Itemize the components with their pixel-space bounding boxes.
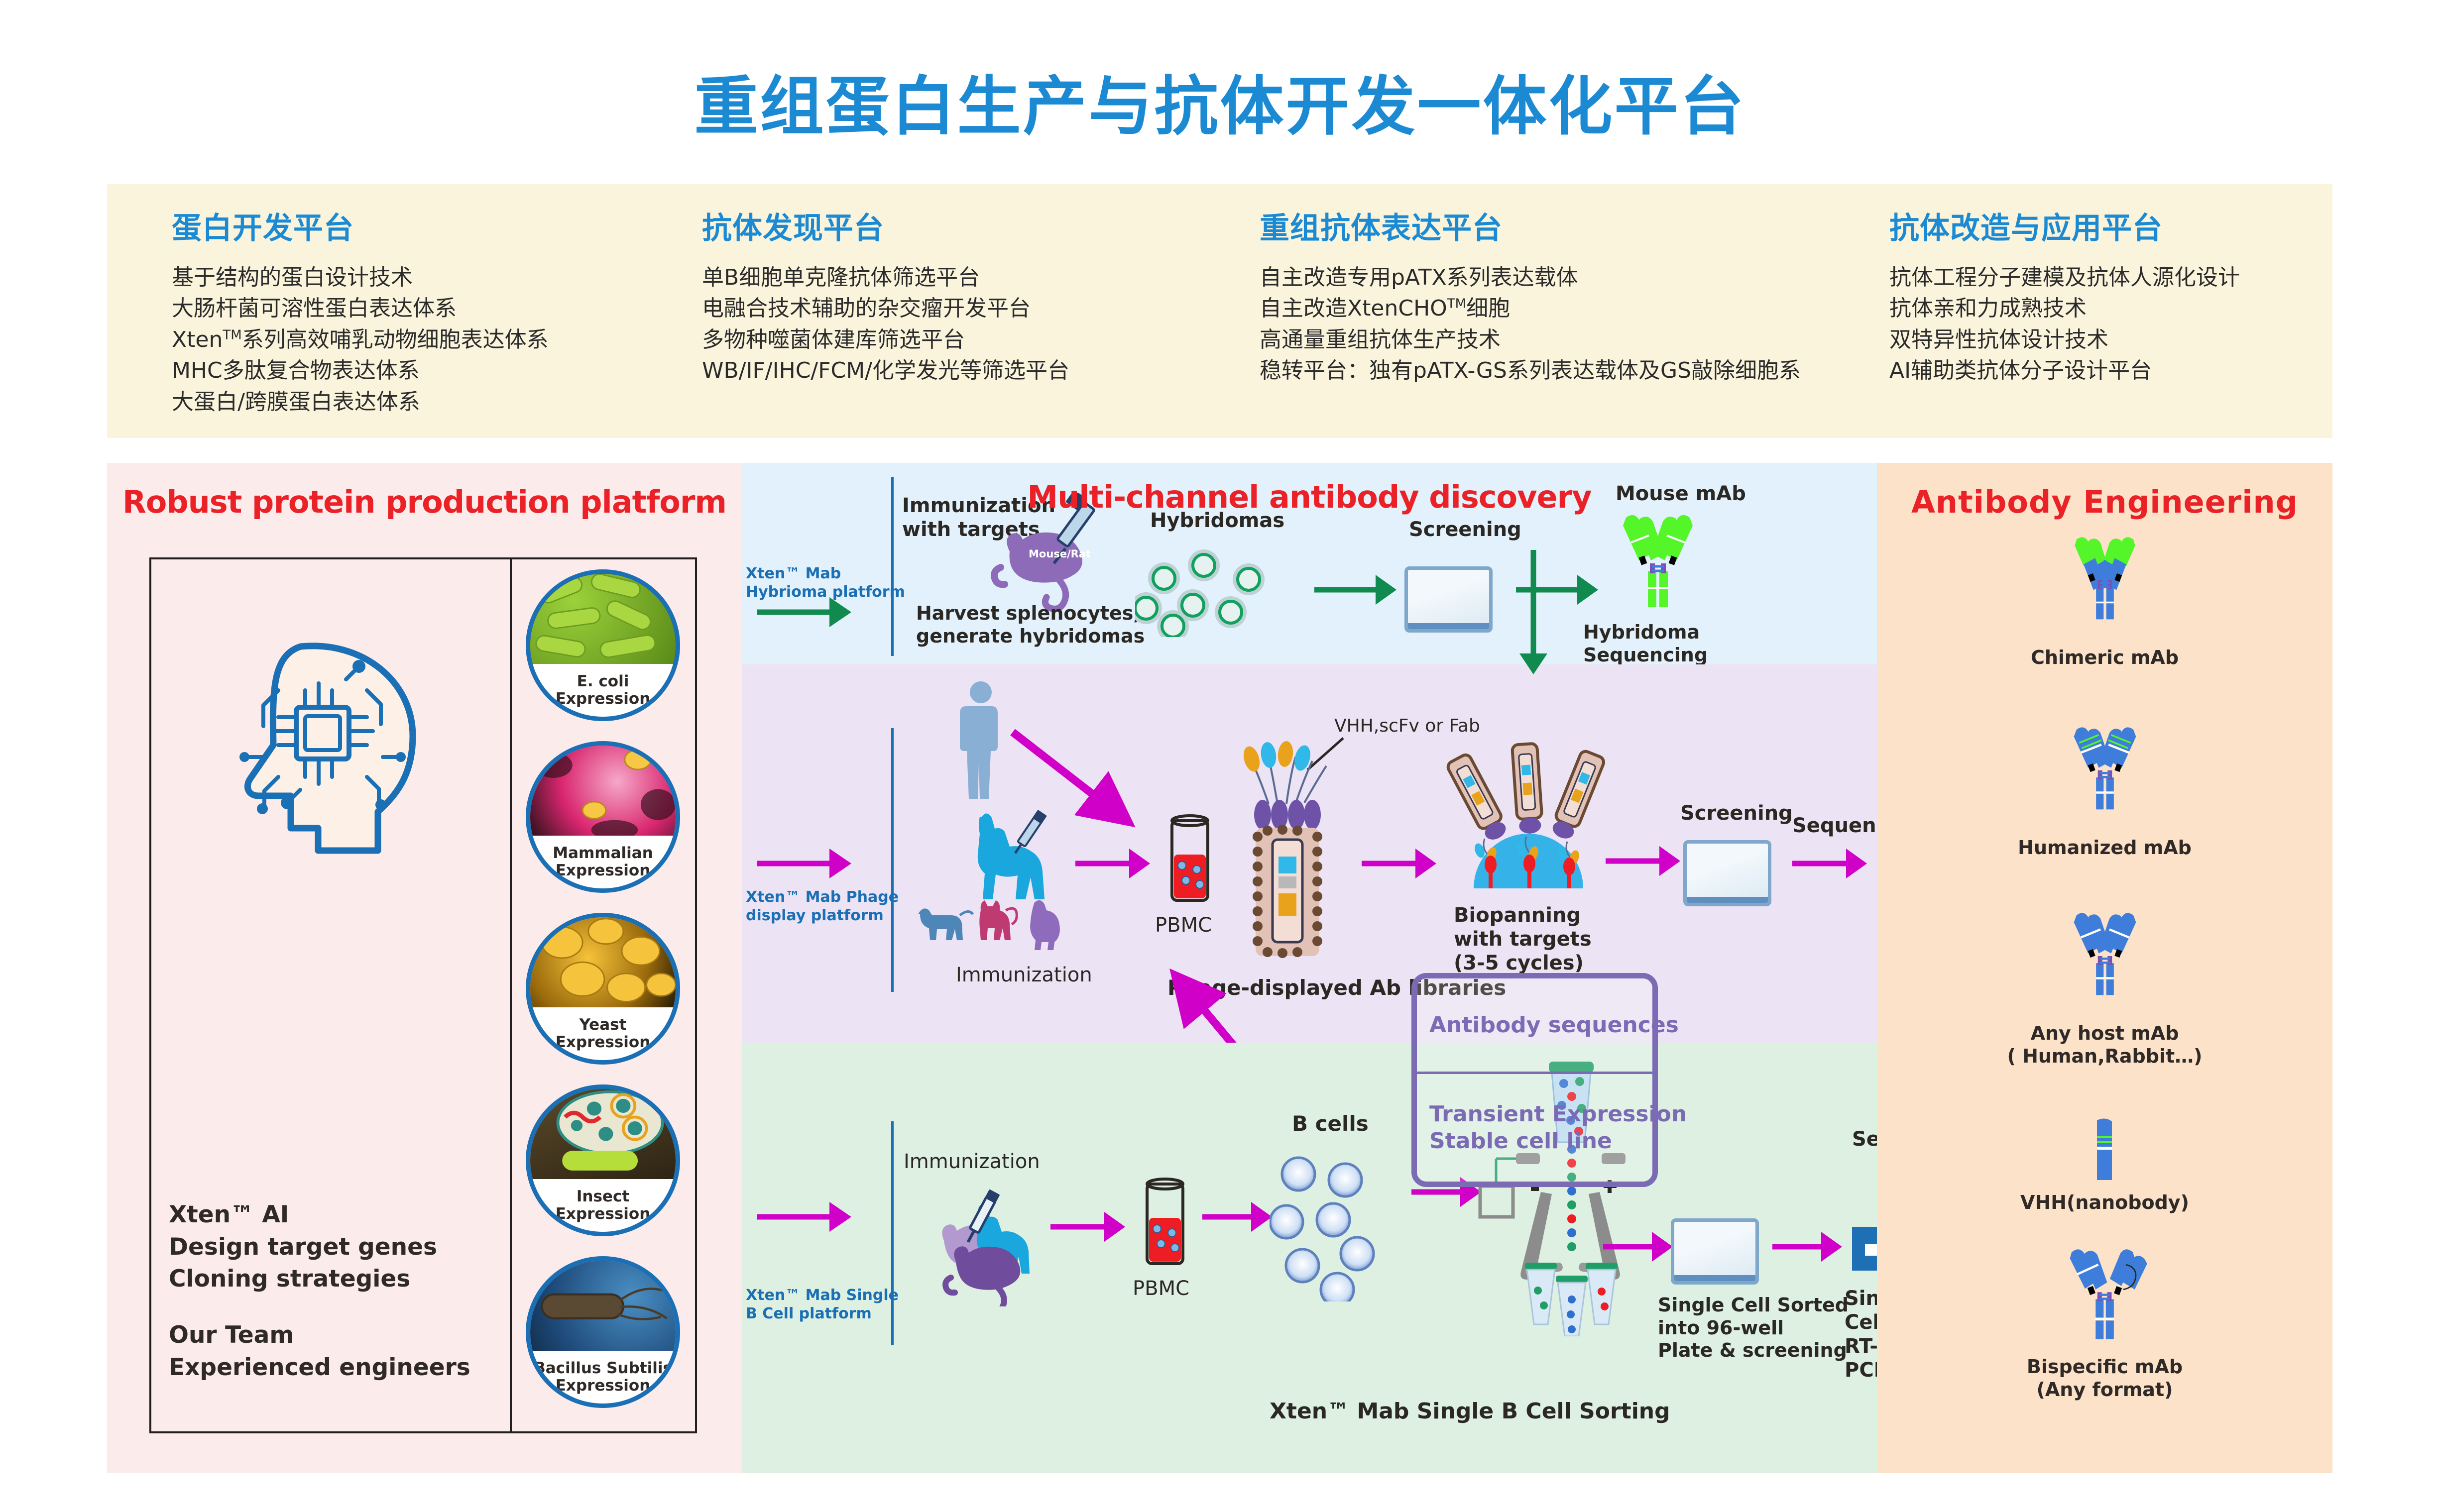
banner-item: WB/IF/IHC/FCM/化学发光等筛选平台 bbox=[702, 355, 1225, 386]
tag-line1: Xten™ Mab Phage bbox=[746, 888, 899, 907]
banner-item: 大蛋白/跨膜蛋白表达体系 bbox=[172, 387, 670, 418]
vhh-nanobody-icon bbox=[2090, 1117, 2120, 1182]
biopanning-icon bbox=[1439, 739, 1618, 903]
immunization-label-phage: Immunization bbox=[956, 963, 1092, 987]
tag-line1: Xten™ Mab bbox=[746, 565, 905, 583]
seqbox-top: Antibody sequences bbox=[1417, 978, 1652, 1074]
label-line2: with targets bbox=[1454, 927, 1592, 951]
banner-item: MHC多肽复合物表达体系 bbox=[172, 355, 670, 386]
banner-item: 单B细胞单克隆抗体筛选平台 bbox=[702, 262, 1225, 293]
engineering-item-anyhost: Any host mAb ( Human,Rabbit…) bbox=[1877, 911, 2332, 1068]
label-line1: Biopanning bbox=[1454, 903, 1592, 927]
ai-design-block: Xten™ AI Design target genes Cloning str… bbox=[151, 559, 510, 1431]
vhh-scfv-fab-label: VHH,scFv or Fab bbox=[1334, 715, 1480, 737]
humanized-mab-icon bbox=[2055, 725, 2155, 827]
engineering-caption-sub: ( Human,Rabbit…) bbox=[1877, 1045, 2332, 1068]
tag-line1: Xten™ Mab Single bbox=[746, 1287, 899, 1305]
mice-syringe-icon bbox=[921, 1187, 1046, 1306]
page-title: 重组蛋白生产与抗体开发一体化平台 bbox=[0, 55, 2440, 147]
label-line3: (3-5 cycles) bbox=[1454, 951, 1592, 975]
left-line: Design target genes bbox=[169, 1231, 507, 1264]
caption-line1: E. coli bbox=[577, 673, 629, 690]
pbmc-label-phage: PBMC bbox=[1155, 913, 1212, 937]
left-line: Xten™ AI bbox=[169, 1199, 507, 1231]
expression-circle-yeast: Yeast Expression bbox=[526, 913, 680, 1065]
banner-column-engineering: 抗体改造与应用平台 抗体工程分子建模及抗体人源化设计 抗体亲和力成熟技术 双特异… bbox=[1867, 184, 2332, 438]
label-line1: Single Cell Sorted bbox=[1658, 1294, 1849, 1317]
expression-circle-bacillus: Bacillus Subtilis Expression bbox=[526, 1256, 680, 1408]
bispecific-mab-icon bbox=[2048, 1244, 2162, 1346]
phage-display-workflow-row: Xten™ Mab Phage display platform bbox=[742, 664, 1877, 1043]
seqbox-bottom-line1: Transient Expression bbox=[1429, 1101, 1652, 1128]
banner-item: 高通量重组抗体生产技术 bbox=[1260, 324, 1867, 355]
caption-line2: Expression bbox=[556, 862, 651, 879]
phage-particle-icon bbox=[1230, 729, 1339, 978]
antibody-sequence-box: Antibody sequences Transient Expression … bbox=[1411, 973, 1658, 1187]
expression-circle-caption: Mammalian Expression bbox=[530, 836, 676, 888]
banner-item: 抗体亲和力成熟技术 bbox=[1889, 293, 2332, 324]
label-line2: into 96-well bbox=[1658, 1317, 1849, 1340]
expression-systems-list: E. coli Expression bbox=[512, 559, 695, 1431]
seqbox-bottom-line2: Stable cell line bbox=[1429, 1128, 1652, 1155]
expression-circle-insect: Insect Expression bbox=[526, 1084, 680, 1236]
engineering-caption: Bispecific mAb bbox=[1877, 1356, 2332, 1379]
bcell-divider bbox=[891, 1121, 894, 1345]
mammalian-photo bbox=[530, 746, 676, 836]
yeast-photo bbox=[530, 917, 676, 1007]
label-line1: Harvest splenocytes, bbox=[916, 602, 1145, 625]
caption-line2: Expression bbox=[556, 1377, 651, 1395]
b-cells-label: B cells bbox=[1292, 1111, 1369, 1136]
left-panel-box: Xten™ AI Design target genes Cloning str… bbox=[149, 557, 697, 1433]
expression-circle-caption: Yeast Expression bbox=[530, 1007, 676, 1060]
engineering-item-vhh: VHH(nanobody) bbox=[1877, 1117, 2332, 1214]
pbmc-tube-icon bbox=[1160, 814, 1220, 913]
antibody-engineering-panel: Antibody Engineering bbox=[1877, 463, 2332, 1473]
human-silhouette-icon bbox=[951, 679, 1011, 804]
protein-production-panel: Robust protein production platform bbox=[107, 463, 742, 1473]
banner-item: 稳转平台：独有pATX-GS系列表达载体及GS敲除细胞系 bbox=[1260, 355, 1867, 386]
banner-column-protein: 蛋白开发平台 基于结构的蛋白设计技术 大肠杆菌可溶性蛋白表达体系 XtenTM系… bbox=[107, 184, 670, 438]
harvest-splenocytes-label: Harvest splenocytes, generate hybridomas bbox=[916, 602, 1145, 648]
phage-platform-tag: Xten™ Mab Phage display platform bbox=[746, 888, 899, 925]
expression-circle-caption: E. coli Expression bbox=[530, 664, 676, 717]
caption-line2: Expression bbox=[556, 1205, 651, 1223]
expression-circle-caption: Bacillus Subtilis Expression bbox=[530, 1351, 676, 1404]
pbmc-tube-icon-bcell bbox=[1135, 1177, 1195, 1277]
biopanning-label: Biopanning with targets (3-5 cycles) bbox=[1454, 903, 1592, 975]
engineering-caption: Any host mAb bbox=[1877, 1022, 2332, 1045]
seqbox-bottom: Transient Expression Stable cell line bbox=[1417, 1074, 1652, 1182]
banner-item: AI辅助类抗体分子设计平台 bbox=[1889, 355, 2332, 386]
banner-item: 抗体工程分子建模及抗体人源化设计 bbox=[1889, 262, 2332, 293]
banner-column-discovery: 抗体发现平台 单B细胞单克隆抗体筛选平台 电融合技术辅助的杂交瘤开发平台 多物种… bbox=[670, 184, 1225, 438]
screening-plate-icon-bcell bbox=[1665, 1214, 1757, 1282]
platform-banner: 蛋白开发平台 基于结构的蛋白设计技术 大肠杆菌可溶性蛋白表达体系 XtenTM系… bbox=[107, 184, 2332, 438]
banner-heading: 重组抗体表达平台 bbox=[1260, 204, 1867, 247]
banner-heading: 蛋白开发平台 bbox=[172, 204, 670, 247]
phage-divider bbox=[891, 728, 894, 992]
engineering-caption: Humanized mAb bbox=[1877, 837, 2332, 860]
banner-column-expression: 重组抗体表达平台 自主改造专用pATX系列表达载体 自主改造XtenCHOTM细… bbox=[1225, 184, 1867, 438]
label-line1: Hybridoma bbox=[1583, 621, 1708, 644]
workflow-panels: Robust protein production platform bbox=[107, 463, 2332, 1473]
left-line: Cloning strategies bbox=[169, 1263, 507, 1296]
banner-item: 自主改造专用pATX系列表达载体 bbox=[1260, 262, 1867, 293]
expression-circle-ecoli: E. coli Expression bbox=[526, 569, 680, 721]
banner-heading: 抗体发现平台 bbox=[702, 204, 1225, 247]
caption-line1: Mammalian bbox=[553, 845, 653, 862]
any-host-mab-icon bbox=[2055, 911, 2155, 1013]
b-cells-icon bbox=[1270, 1152, 1419, 1301]
mouse-mab-antibody-icon bbox=[1608, 513, 1708, 627]
label-line2: Sequencing bbox=[1583, 644, 1708, 667]
engineering-caption: VHH(nanobody) bbox=[1877, 1191, 2332, 1214]
label-line3: Plate & screening bbox=[1658, 1339, 1849, 1362]
engineering-item-bispecific: Bispecific mAb (Any format) bbox=[1877, 1244, 2332, 1401]
banner-item: 大肠杆菌可溶性蛋白表达体系 bbox=[172, 293, 670, 324]
left-panel-title: Robust protein production platform bbox=[107, 484, 742, 520]
pbmc-label-bcell: PBMC bbox=[1133, 1277, 1189, 1300]
insect-photo bbox=[530, 1089, 676, 1179]
left-line: Our Team bbox=[169, 1319, 507, 1352]
engineering-caption-sub: (Any format) bbox=[1877, 1379, 2332, 1402]
mid-panel-title: Multi-channel antibody discovery bbox=[742, 479, 1877, 515]
banner-heading: 抗体改造与应用平台 bbox=[1889, 204, 2332, 247]
banner-item: XtenTM系列高效哺乳动物细胞表达体系 bbox=[172, 324, 670, 355]
arrow-human-to-pbmc bbox=[1006, 724, 1140, 834]
banner-item: 多物种噬菌体建库筛选平台 bbox=[702, 324, 1225, 355]
banner-item: 自主改造XtenCHOTM细胞 bbox=[1260, 293, 1867, 324]
caption-line2: Expression bbox=[556, 690, 651, 708]
banner-item: 双特异性抗体设计技术 bbox=[1889, 324, 2332, 355]
right-panel-title: Antibody Engineering bbox=[1877, 484, 2332, 520]
engineering-caption: Chimeric mAb bbox=[1877, 647, 2332, 669]
expression-circle-mammalian: Mammalian Expression bbox=[526, 741, 680, 893]
tag-line2: B Cell platform bbox=[746, 1305, 899, 1323]
single-bcell-workflow-row: Xten™ Mab Single B Cell platform Immuniz… bbox=[742, 1043, 1877, 1473]
ai-design-text: Xten™ AI Design target genes Cloning str… bbox=[169, 1199, 507, 1384]
animal-species-icons bbox=[911, 893, 1075, 953]
seqbox-top-label: Antibody sequences bbox=[1429, 1012, 1679, 1039]
immunization-label-bcell: Immunization bbox=[904, 1150, 1040, 1174]
expression-circle-caption: Insect Expression bbox=[530, 1179, 676, 1232]
caption-line1: Yeast bbox=[580, 1016, 627, 1034]
label-line2: generate hybridomas bbox=[916, 625, 1145, 648]
hybridoma-sequencing-label: Hybridoma Sequencing bbox=[1583, 621, 1708, 666]
caption-line1: Bacillus Subtilis bbox=[534, 1360, 672, 1377]
engineering-item-chimeric: Chimeric mAb bbox=[1877, 535, 2332, 669]
svg-text:Mouse/Rat: Mouse/Rat bbox=[1029, 548, 1091, 560]
screening-label-phage: Screening bbox=[1680, 801, 1793, 825]
engineering-item-humanized: Humanized mAb bbox=[1877, 725, 2332, 860]
screening-label-hybridoma: Screening bbox=[1409, 518, 1521, 541]
caption-line2: Expression bbox=[556, 1034, 651, 1051]
hybridoma-platform-tag: Xten™ Mab Hybrioma platform bbox=[746, 565, 905, 601]
hybridoma-cells-icon bbox=[1135, 547, 1334, 637]
ecoli-photo bbox=[530, 574, 676, 664]
caption-line1: Insect bbox=[577, 1188, 629, 1205]
bacillus-photo bbox=[530, 1261, 676, 1351]
chimeric-mab-icon bbox=[2055, 535, 2155, 637]
left-line: Experienced engineers bbox=[169, 1352, 507, 1384]
screening-plate-icon-hybridoma bbox=[1399, 562, 1491, 630]
bcell-platform-tag: Xten™ Mab Single B Cell platform bbox=[746, 1287, 899, 1323]
screening-plate-icon-phage bbox=[1678, 836, 1770, 903]
banner-item: 电融合技术辅助的杂交瘤开发平台 bbox=[702, 293, 1225, 324]
antibody-discovery-panel: Multi-channel antibody discovery Xten™ M… bbox=[742, 463, 1877, 1473]
ai-brain-head-icon bbox=[199, 632, 448, 870]
banner-item: 基于结构的蛋白设计技术 bbox=[172, 262, 670, 293]
bcell-sorting-title: Xten™ Mab Single B Cell Sorting bbox=[1270, 1399, 1670, 1425]
single-cell-sorted-label: Single Cell Sorted into 96-well Plate & … bbox=[1658, 1294, 1849, 1362]
tag-line2: display platform bbox=[746, 907, 899, 925]
tag-line2: Hybrioma platform bbox=[746, 583, 905, 602]
